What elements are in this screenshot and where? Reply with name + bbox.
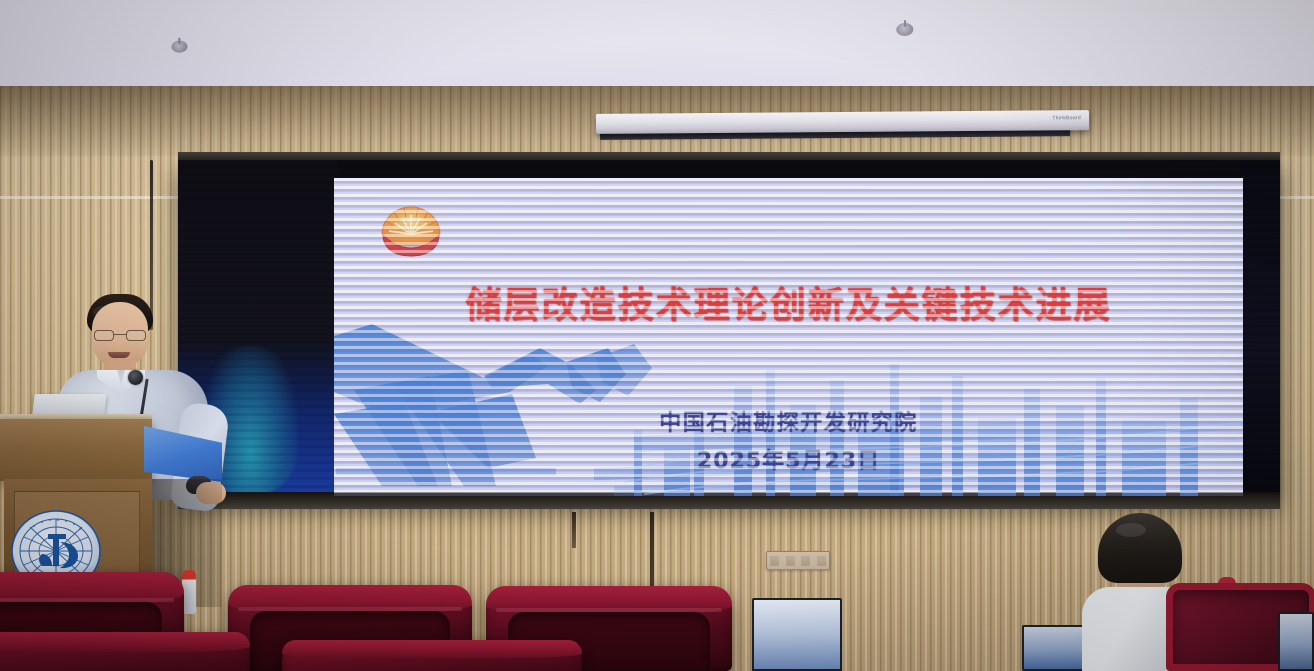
outlet-socket — [786, 556, 795, 566]
led-video-wall[interactable]: 储层改造技术理论创新及关键技术进展 中国石油勘探开发研究院 2025年5月23日 — [178, 160, 1280, 500]
auditorium-seat[interactable] — [282, 640, 582, 671]
microphone-icon[interactable] — [128, 370, 143, 385]
glasses-bridge — [114, 334, 126, 335]
outlet-socket — [770, 556, 779, 566]
glasses-icon — [94, 330, 146, 341]
slide-organization: 中国石油勘探开发研究院 — [334, 405, 1243, 437]
seat-crest — [0, 632, 250, 652]
screen-brand-label: ThinkBoard — [1052, 115, 1081, 121]
outlet-socket — [817, 556, 826, 566]
cnpc-logo — [376, 204, 446, 258]
sprinkler-head — [896, 23, 913, 36]
row-laptop[interactable] — [752, 598, 842, 671]
wall-outlet-plate[interactable] — [766, 551, 830, 570]
row-laptop[interactable] — [1278, 612, 1314, 671]
projection-screen-housing[interactable]: ThinkBoard — [596, 110, 1089, 134]
speaker-mouth — [108, 352, 130, 358]
attendee-hair — [1098, 513, 1182, 583]
wall-vertical-seam — [572, 512, 576, 548]
water-bottle[interactable] — [182, 570, 196, 614]
slide-title: 储层改造技术理论创新及关键技术进展 — [334, 276, 1243, 328]
led-dark-right-region — [1240, 160, 1280, 500]
glasses-right-lens — [126, 330, 146, 341]
auditorium-seat[interactable] — [0, 632, 250, 671]
conference-hall-photo: ThinkBoard — [0, 0, 1314, 671]
seat-crest — [282, 640, 582, 658]
presentation-slide[interactable]: 储层改造技术理论创新及关键技术进展 中国石油勘探开发研究院 2025年5月23日 — [334, 178, 1243, 496]
outlet-socket — [801, 556, 810, 566]
sprinkler-head — [171, 40, 187, 52]
hanging-cable — [150, 160, 153, 330]
glasses-left-lens — [94, 330, 114, 341]
slide-date: 2025年5月23日 — [334, 443, 1243, 475]
podium-desk — [0, 419, 152, 481]
